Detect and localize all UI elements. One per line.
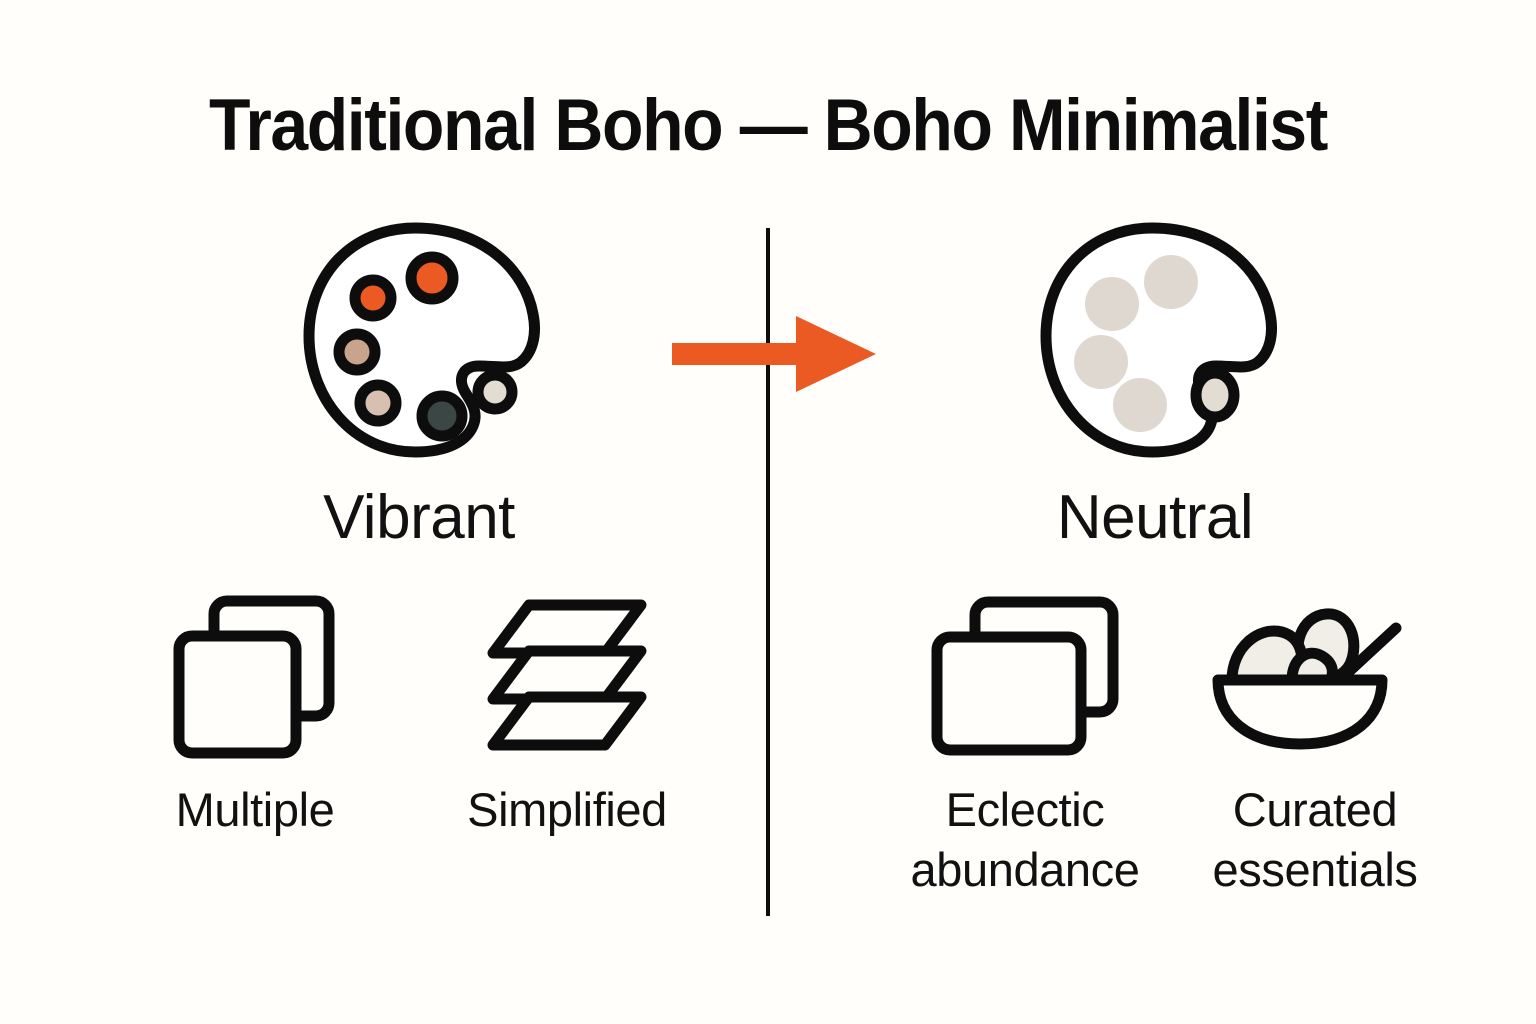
feature-curated-essentials: Curated essentials (1190, 588, 1440, 900)
overlapping-squares-icon (165, 591, 345, 761)
column-boho-minimalist: Neutral Eclectic abundance (790, 220, 1490, 960)
infographic-canvas: Traditional Boho — Boho Minimalist Vibra… (0, 0, 1536, 1024)
layers-stack-icon-wrap (477, 588, 657, 764)
feature-row-left: Multiple Simplified (46, 588, 746, 840)
bowl-of-greens-icon (1210, 600, 1420, 752)
column-traditional-boho: Vibrant Multiple (46, 220, 746, 960)
feature-label-eclectic-abundance: Eclectic abundance (900, 780, 1150, 900)
feature-label-multiple: Multiple (176, 780, 335, 840)
overlapping-rectangles-icon (925, 592, 1125, 760)
palette-label-right: Neutral (790, 482, 1490, 553)
feature-simplified: Simplified (442, 588, 692, 840)
feature-label-curated-essentials: Curated essentials (1190, 780, 1440, 900)
palette-icon-wrap-right (790, 220, 1490, 468)
feature-multiple: Multiple (130, 588, 380, 840)
page-title: Traditional Boho — Boho Minimalist (54, 88, 1482, 165)
overlapping-rectangles-icon-wrap (925, 588, 1125, 764)
palette-icon (1034, 220, 1284, 468)
palette-label-left: Vibrant (46, 482, 746, 553)
bowl-of-greens-icon-wrap (1210, 588, 1420, 764)
palette-icon-wrap-left (46, 220, 746, 468)
feature-row-right: Eclectic abundance Curated essentials (790, 588, 1490, 900)
palette-icon (297, 220, 547, 468)
feature-eclectic-abundance: Eclectic abundance (900, 588, 1150, 900)
layers-stack-icon (477, 595, 657, 757)
overlapping-squares-icon-wrap (165, 588, 345, 764)
feature-label-simplified: Simplified (467, 780, 667, 840)
